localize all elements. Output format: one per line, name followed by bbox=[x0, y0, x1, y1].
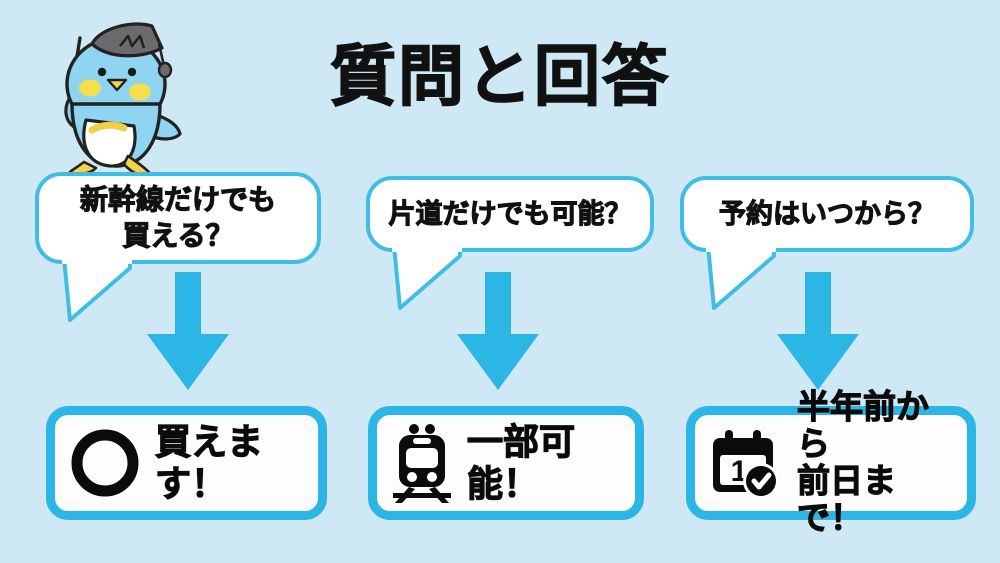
answer-box-1-text: 買えます！ bbox=[155, 421, 304, 505]
question-bubble-2-text: 片道だけでも可能？ bbox=[389, 197, 632, 231]
question-bubble-3-text: 予約はいつから？ bbox=[719, 197, 935, 231]
question-bubble-1-tail bbox=[62, 258, 132, 322]
question-bubble-2: 片道だけでも可能？ bbox=[366, 176, 654, 252]
answer-box-2: 一部可能！ bbox=[368, 406, 644, 520]
question-bubble-3-tail bbox=[706, 246, 776, 310]
question-bubble-3: 予約はいつから？ bbox=[680, 176, 974, 252]
answer-box-3: 1 半年前から 前日まで！ bbox=[686, 406, 976, 520]
train-icon bbox=[391, 423, 453, 503]
question-bubble-1-text: 新幹線だけでも 買える？ bbox=[80, 182, 276, 254]
answer-box-2-text: 一部可能！ bbox=[467, 421, 621, 505]
slide-canvas: 質問と回答 新幹線だけでも 買える？ 片道だけでも可能？ 予約はいつから？ 買え… bbox=[0, 0, 1000, 563]
down-arrow-icon-2 bbox=[455, 272, 541, 392]
question-bubble-1: 新幹線だけでも 買える？ bbox=[35, 172, 321, 264]
page-title: 質問と回答 bbox=[0, 38, 1000, 114]
question-bubble-2-tail bbox=[392, 246, 462, 310]
down-arrow-icon-1 bbox=[145, 272, 231, 392]
answer-box-3-text: 半年前から 前日まで！ bbox=[797, 389, 953, 537]
answer-box-1: 買えます！ bbox=[46, 406, 327, 520]
circle-outline-icon bbox=[69, 427, 141, 499]
down-arrow-icon-3 bbox=[775, 272, 861, 392]
calendar-check-icon: 1 bbox=[709, 426, 783, 500]
